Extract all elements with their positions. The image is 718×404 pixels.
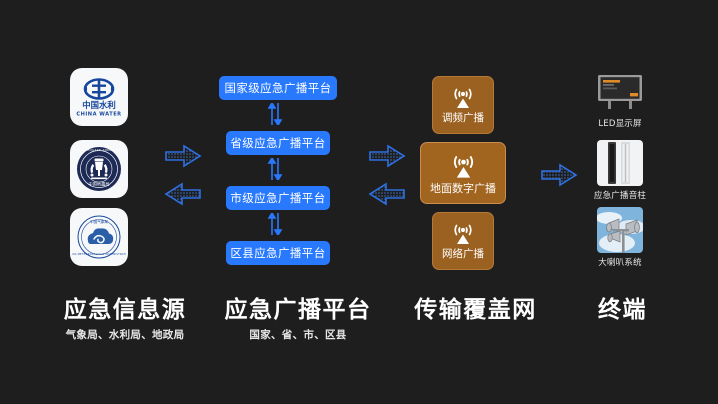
source-logo-meteorological-administration[interactable]: 中国气象局 CHINA METEOROLOGICAL ADMINISTRATIO… [70,208,128,266]
column-heading-terminals: 终端 [545,298,700,322]
platform-national[interactable]: 国家级应急广播平台 [219,76,337,100]
transmission-fm-broadcast-label: 调频广播 [442,113,484,124]
svg-text:CHINA WATER: CHINA WATER [76,112,121,118]
svg-text:CHINA EARTHQUAKE ADMINISTRATIO: CHINA EARTHQUAKE ADMINISTRATION [72,148,126,152]
platform-municipal[interactable]: 市级应急广播平台 [226,186,330,210]
platform-national-label: 国家级应急广播平台 [224,80,331,96]
arrow-transmission-to-platform-left [370,184,404,204]
loudspeaker-icon [597,207,643,253]
diagram-canvas: 中国水利 CHINA WATER CHINA EARTHQUAKE ADMINI… [0,0,718,404]
connector-provincial-municipal [267,158,283,180]
terminal-loudspeaker-system-label: 大喇叭系统 [589,256,651,268]
platform-provincial-label: 省级应急广播平台 [230,135,325,151]
svg-text:CHINA METEOROLOGICAL ADMINISTR: CHINA METEOROLOGICAL ADMINISTRATION [72,252,126,256]
arrow-transmission-to-terminal-right [542,165,576,185]
terminal-loudspeaker-system[interactable]: 大喇叭系统 [589,207,651,268]
column-heading-emergency-broadcast-platform: 应急广播平台 国家、省、市、区县 [193,298,403,342]
transmission-network-broadcast-label: 网络广播 [442,249,484,260]
connector-municipal-district [267,213,283,235]
china-water-logo: 中国水利 CHINA WATER [72,70,126,124]
broadcast-tower-icon [450,222,476,246]
arrow-platform-to-source-left [166,184,200,204]
platform-district-county-label: 区县应急广播平台 [230,245,325,261]
svg-text:中国气象局: 中国气象局 [90,219,108,224]
source-logo-china-water[interactable]: 中国水利 CHINA WATER [70,68,128,126]
connector-national-provincial [267,103,283,125]
transmission-fm-broadcast[interactable]: 调频广播 [432,76,494,134]
connector-arrows [0,0,718,404]
broadcast-tower-icon [450,86,476,110]
transmission-network-broadcast[interactable]: 网络广播 [432,212,494,270]
arrow-platform-to-transmission-right [370,146,404,166]
svg-text:中国地震局: 中国地震局 [89,181,110,188]
source-logo-earthquake-administration[interactable]: CHINA EARTHQUAKE ADMINISTRATION 中国地震局 [70,140,128,198]
speaker-column-icon [597,140,643,186]
column-heading-transmission-coverage-network: 传输覆盖网 [383,298,568,322]
platform-provincial[interactable]: 省级应急广播平台 [226,131,330,155]
arrow-source-to-platform-right [166,146,200,166]
heading-subtitle: 国家、省、市、区县 [193,327,403,342]
led-billboard-icon [592,72,648,114]
earthquake-seal-logo: CHINA EARTHQUAKE ADMINISTRATION 中国地震局 [72,142,126,196]
terminal-sound-column[interactable]: 应急广播音柱 [589,140,651,201]
terminal-led-display-label: LED显示屏 [589,117,651,129]
transmission-terrestrial-digital-broadcast-label: 地面数字广播 [430,183,496,194]
heading-title: 终端 [545,298,700,322]
transmission-terrestrial-digital-broadcast[interactable]: 地面数字广播 [420,142,506,204]
platform-district-county[interactable]: 区县应急广播平台 [226,241,330,265]
terminal-led-display[interactable]: LED显示屏 [589,72,651,129]
svg-text:中国水利: 中国水利 [82,100,116,110]
heading-title: 传输覆盖网 [383,298,568,322]
meteorological-cloud-logo: 中国气象局 CHINA METEOROLOGICAL ADMINISTRATIO… [72,210,126,264]
broadcast-tower-icon [449,153,478,180]
platform-municipal-label: 市级应急广播平台 [230,190,325,206]
terminal-sound-column-label: 应急广播音柱 [589,189,651,201]
heading-title: 应急广播平台 [193,298,403,322]
